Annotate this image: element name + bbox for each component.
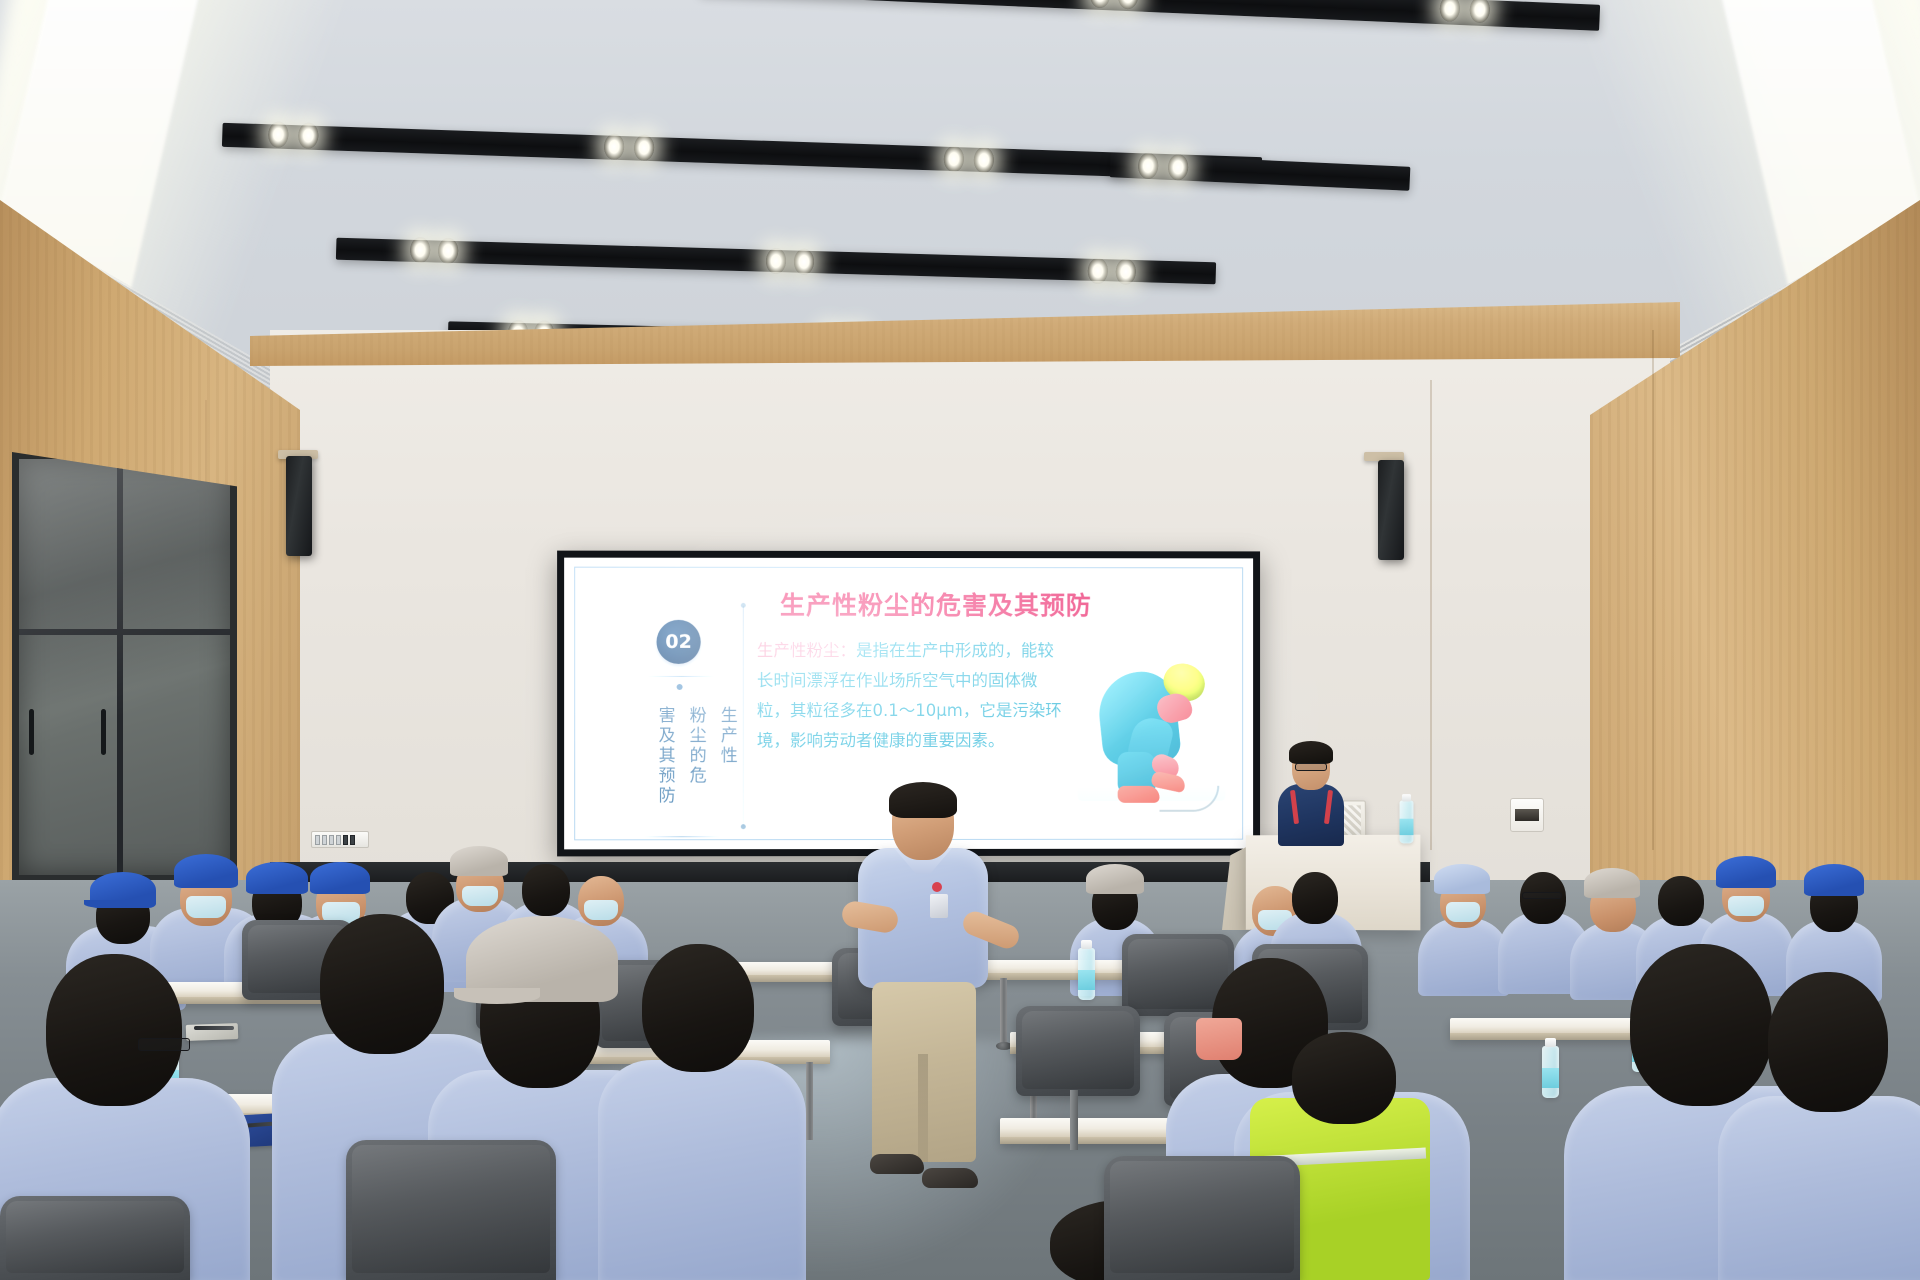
ac-control-panel[interactable] [1510,798,1544,832]
wall-speaker-left [286,456,312,556]
photo-hose [1160,786,1220,812]
water-bottle [1542,1046,1559,1098]
chair [1104,1156,1300,1280]
light-switch-panel[interactable] [311,831,369,848]
bottle-cap [1402,794,1411,801]
attendee-shoulders [598,1060,806,1280]
ceiling-spot [766,248,787,275]
wall-seam [1430,380,1432,850]
slide-worker-photo [1078,634,1225,809]
chair [0,1196,190,1280]
slide-badge-rule-bottom [638,836,724,837]
ceiling-spot [438,238,459,265]
attendee-head [1768,972,1888,1112]
slide-body-text: 生产性粉尘：是指在生产中形成的，能较长时间漂浮在作业场所空气中的固体微粒，其粒径… [757,636,1067,756]
attendee-head [320,914,444,1054]
ceiling-spot [794,249,815,276]
slide-vertical-divider [743,606,744,826]
presenter [836,786,1016,1206]
presenter-id-badge [930,894,948,918]
attendee-head [1292,872,1338,924]
face-mask [186,896,226,918]
ceiling-spot [634,134,655,161]
ceiling-light-band-1 [700,0,1600,31]
presenter-leg-gap [918,1054,928,1162]
attendee-shoulders [1718,1096,1920,1280]
attendee [1418,862,1510,996]
slide-vertical-col-3: 害及其预防 [653,706,678,836]
door-handle[interactable] [29,709,34,755]
face-mask [1728,896,1764,916]
glasses-icon [138,1038,190,1051]
operator-hair [1289,741,1333,764]
ceiling-light-band-2 [222,123,1262,181]
ceiling-spot [410,237,431,264]
slide-section-number-badge: 02 [657,620,701,664]
slide-body-term: 生产性粉尘： [757,641,856,660]
door-handle[interactable] [101,709,106,755]
cap-brim [84,900,128,908]
door-glass-reflection [19,459,230,875]
attendee-head [642,944,754,1072]
podium-operator [1276,744,1346,844]
blue-cap [1804,864,1864,896]
chair-post [1070,1090,1078,1150]
attendee-front [1724,946,1920,1280]
lapel-pin-icon [932,882,942,892]
slide-body-line-1: 是指在生产中形成的， [856,641,1021,660]
presenter-shoe [870,1154,924,1174]
bottle-cap [1081,940,1092,949]
attendee-head [46,954,182,1106]
ceiling-spot [604,133,625,160]
face-mask [1196,1018,1242,1060]
ceiling-spot [1087,258,1108,285]
glasses-icon [1522,892,1562,899]
chair [1016,1006,1140,1096]
attendee-shoulders [1418,918,1510,996]
glasses-icon [1295,763,1327,771]
desk-leg [806,1062,813,1140]
slide-badge-dot [677,684,683,690]
wall-seam [1652,330,1654,850]
ceiling-spot [1118,0,1139,9]
ac-panel-display [1515,809,1539,821]
gray-cap [1086,864,1144,894]
attendee-front [606,910,796,1280]
ceiling-spot [268,121,289,148]
wall-speaker-right [1378,460,1404,560]
switch-key[interactable] [329,835,334,845]
ceiling-spot [973,147,994,174]
face-mask [1446,902,1480,922]
bottle-cap [1545,1038,1556,1047]
ceiling-spot [1115,258,1136,285]
ceiling-spot [1168,154,1189,181]
water-bottle [1400,801,1414,844]
switch-key[interactable] [322,835,327,845]
slide-vertical-title-group: 生产性 粉尘的危 害及其预防 [624,706,739,836]
presenter-shoe [922,1168,978,1188]
slide-title: 生产性粉尘的危害及其预防 [780,586,1249,622]
slide-badge-rule-top [638,676,724,677]
ceiling-light-band-3 [336,238,1216,285]
presenter-hair [889,782,957,818]
bottle-label [1542,1068,1559,1088]
photo-worker-boot [1118,786,1160,803]
ceiling-spot [1469,0,1490,23]
chair [346,1140,556,1280]
blue-cap [1716,856,1776,888]
glass-entry-door[interactable] [12,452,237,882]
light-blue-cap [1434,864,1490,894]
gray-cap [1584,868,1640,898]
bottle-label [1078,970,1095,990]
ceiling-spot [1439,0,1460,22]
ceiling-spot [298,122,319,149]
water-bottle [1078,948,1095,1000]
slide-vertical-col-2: 粉尘的危 [684,706,709,836]
switch-key[interactable] [315,835,320,845]
cap-brim [454,988,540,1004]
attendee-head [1292,1032,1396,1124]
ceiling-spot [1090,0,1111,8]
operator-torso [1278,784,1344,846]
slide-body-line-5: 健康的重要因素。 [872,731,1004,750]
ceiling-spot [1138,152,1159,179]
bottle-label [1400,819,1414,835]
switch-key[interactable] [336,835,341,845]
switch-key[interactable] [343,835,348,845]
ceiling-spot [943,146,964,173]
switch-key[interactable] [350,835,355,845]
photo-scene: 生产性粉尘的危害及其预防 02 生产性 粉尘的危 害及其预防 生产性粉尘：是指在… [0,0,1920,1280]
slide-vertical-col-1: 生产性 [715,706,740,836]
